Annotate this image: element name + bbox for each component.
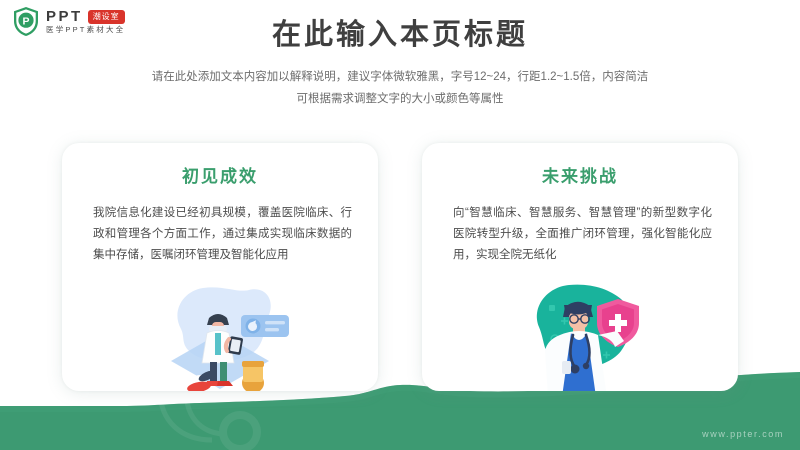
page-subtitle: 请在此处添加文本内容加以解释说明，建议字体微软雅黑，字号12~24，行距1.2~… bbox=[0, 66, 800, 110]
logo-tagline: 医学PPT素材大全 bbox=[46, 26, 125, 34]
card-title-future-challenges: 未来挑战 bbox=[422, 162, 738, 187]
doctor-with-shield-illustration bbox=[505, 277, 655, 391]
logo-brand-text: PPT bbox=[46, 9, 83, 24]
card-future-challenges[interactable]: 未来挑战 向“智慧临床、智慧服务、智慧管理”的新型数字化医院转型升级，全面推广闭… bbox=[422, 143, 738, 391]
logo-badge: 潮设室 bbox=[88, 10, 125, 24]
card-body-future-challenges: 向“智慧临床、智慧服务、智慧管理”的新型数字化医院转型升级，全面推广闭环管理，强… bbox=[453, 203, 712, 266]
card-title-achievements: 初见成效 bbox=[62, 162, 378, 187]
doctor-with-clipboard-illustration bbox=[145, 277, 295, 391]
card-achievements[interactable]: 初见成效 我院信息化建设已经初具规模，覆盖医院临床、行政和管理各个方面工作，通过… bbox=[62, 143, 378, 391]
shield-logo-icon: P bbox=[12, 6, 40, 37]
page-subtitle-line-1: 请在此处添加文本内容加以解释说明，建议字体微软雅黑，字号12~24，行距1.2~… bbox=[0, 66, 800, 88]
card-body-achievements: 我院信息化建设已经初具规模，覆盖医院临床、行政和管理各个方面工作，通过集成实现临… bbox=[93, 203, 352, 266]
site-watermark: www.ppter.com bbox=[702, 429, 784, 439]
svg-text:P: P bbox=[22, 15, 29, 27]
brand-logo[interactable]: P PPT 潮设室 医学PPT素材大全 bbox=[12, 6, 125, 37]
page-subtitle-line-2: 可根据需求调整文字的大小或颜色等属性 bbox=[0, 88, 800, 110]
logo-primary-row: PPT 潮设室 bbox=[46, 9, 125, 24]
content-cards-row: 初见成效 我院信息化建设已经初具规模，覆盖医院临床、行政和管理各个方面工作，通过… bbox=[62, 143, 738, 391]
slide-canvas: www.ppter.com P PPT 潮设室 医学PPT素材大全 在此输入本页… bbox=[0, 0, 800, 450]
logo-text-block: PPT 潮设室 医学PPT素材大全 bbox=[46, 9, 125, 34]
